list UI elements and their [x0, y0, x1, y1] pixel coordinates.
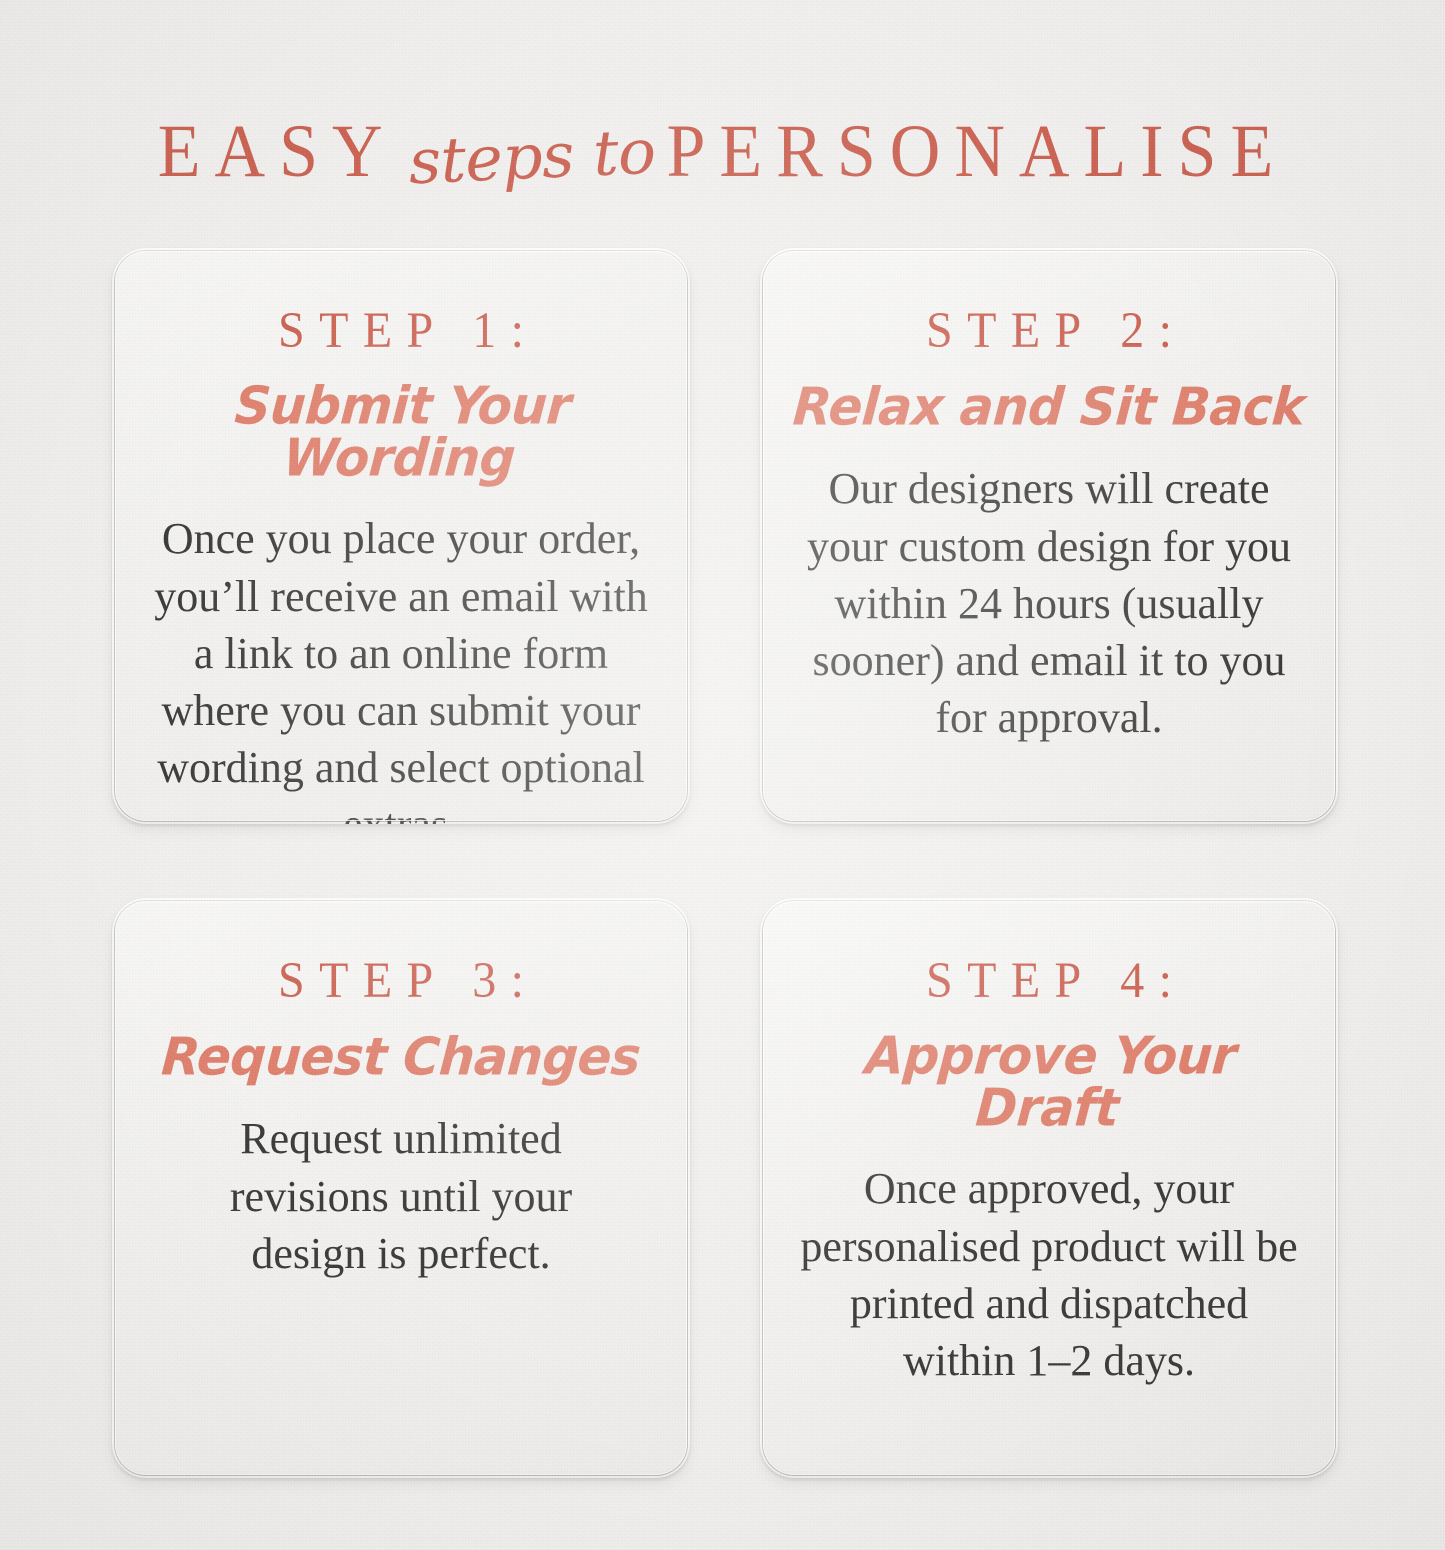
title-word-easy: EASY — [158, 109, 397, 195]
step-body-4: Once approved, your personalised product… — [790, 1160, 1308, 1389]
step-label-3: STEP 3: — [142, 954, 660, 1007]
step-title-3: Request Changes — [140, 1031, 662, 1083]
title-word-personalise: PERSONALISE — [666, 109, 1287, 195]
step-title-1: Submit Your Wording — [138, 380, 663, 484]
step-card-3: STEP 3: Request Changes Request unlimite… — [112, 898, 690, 1478]
step-label-1: STEP 1: — [142, 304, 660, 357]
step-card-1: STEP 1: Submit Your Wording Once you pla… — [112, 248, 690, 824]
step-card-2: STEP 2: Relax and Sit Back Our designers… — [760, 248, 1338, 824]
page-title: EASYsteps toPERSONALISE — [0, 112, 1445, 192]
step-title-4: Approve Your Draft — [786, 1030, 1311, 1134]
step-label-2: STEP 2: — [790, 304, 1308, 357]
title-script-steps-to: steps to — [392, 114, 670, 199]
step-body-3: Request unlimited revisions until your d… — [186, 1110, 616, 1282]
step-title-2: Relax and Sit Back — [788, 381, 1310, 433]
step-label-4: STEP 4: — [790, 954, 1308, 1007]
step-body-2: Our designers will create your custom de… — [797, 460, 1302, 746]
step-card-4: STEP 4: Approve Your Draft Once approved… — [760, 898, 1338, 1478]
step-body-1: Once you place your order, you’ll receiv… — [142, 510, 660, 824]
steps-grid: STEP 1: Submit Your Wording Once you pla… — [112, 248, 1338, 1478]
